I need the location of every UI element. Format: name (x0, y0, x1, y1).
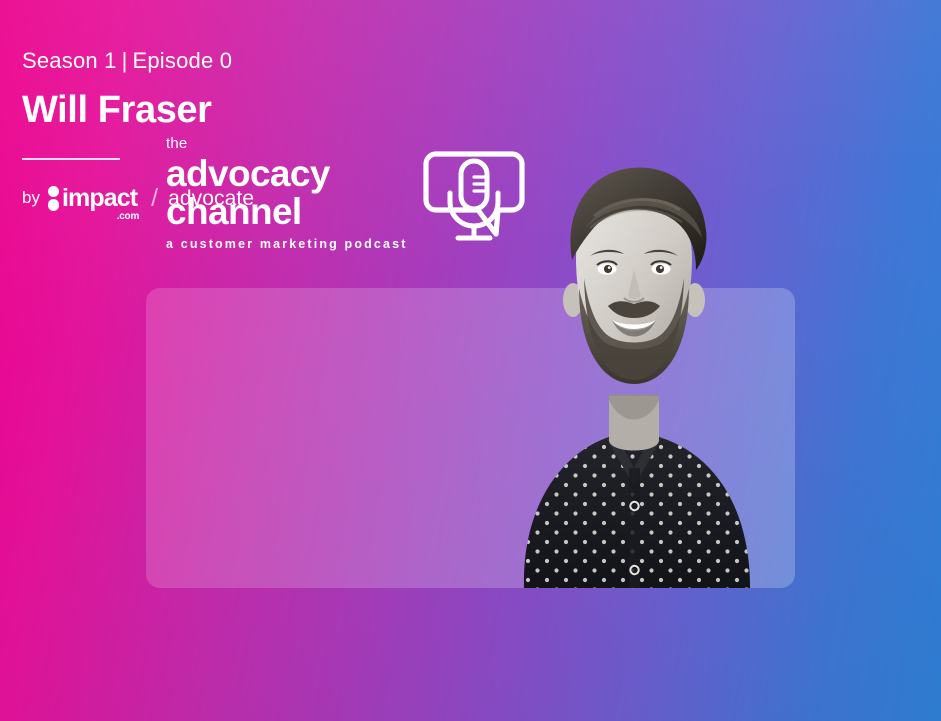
episode-details: Season 1|Episode 0 Will Fraser by impact… (22, 48, 322, 211)
season-episode-separator: | (117, 48, 133, 73)
logo-tagline: a customer marketing podcast (166, 238, 408, 251)
brand-slash-separator: / (151, 186, 158, 211)
season-episode-line: Season 1|Episode 0 (22, 48, 322, 74)
divider-rule (22, 158, 120, 160)
impact-tld-text: .com (117, 212, 140, 222)
impact-word-text: impact (62, 184, 137, 212)
impact-advocate-branding: by impact .com / advocate (22, 186, 322, 211)
impact-i-mark-icon (48, 186, 59, 211)
brand-by-label: by (22, 188, 40, 208)
impact-wordmark: impact .com (62, 186, 137, 211)
podcast-microphone-speech-bubble-icon (422, 150, 526, 247)
brand-product-name: advocate (168, 188, 254, 209)
impact-mark-stem (48, 199, 59, 211)
podcast-episode-poster: the advocacy channel a customer marketin… (0, 0, 941, 721)
impact-mark-dot (48, 186, 59, 197)
season-label: Season 1 (22, 48, 117, 73)
episode-label: Episode 0 (133, 48, 233, 73)
episode-info-card (146, 288, 795, 588)
guest-name: Will Fraser (22, 91, 322, 131)
